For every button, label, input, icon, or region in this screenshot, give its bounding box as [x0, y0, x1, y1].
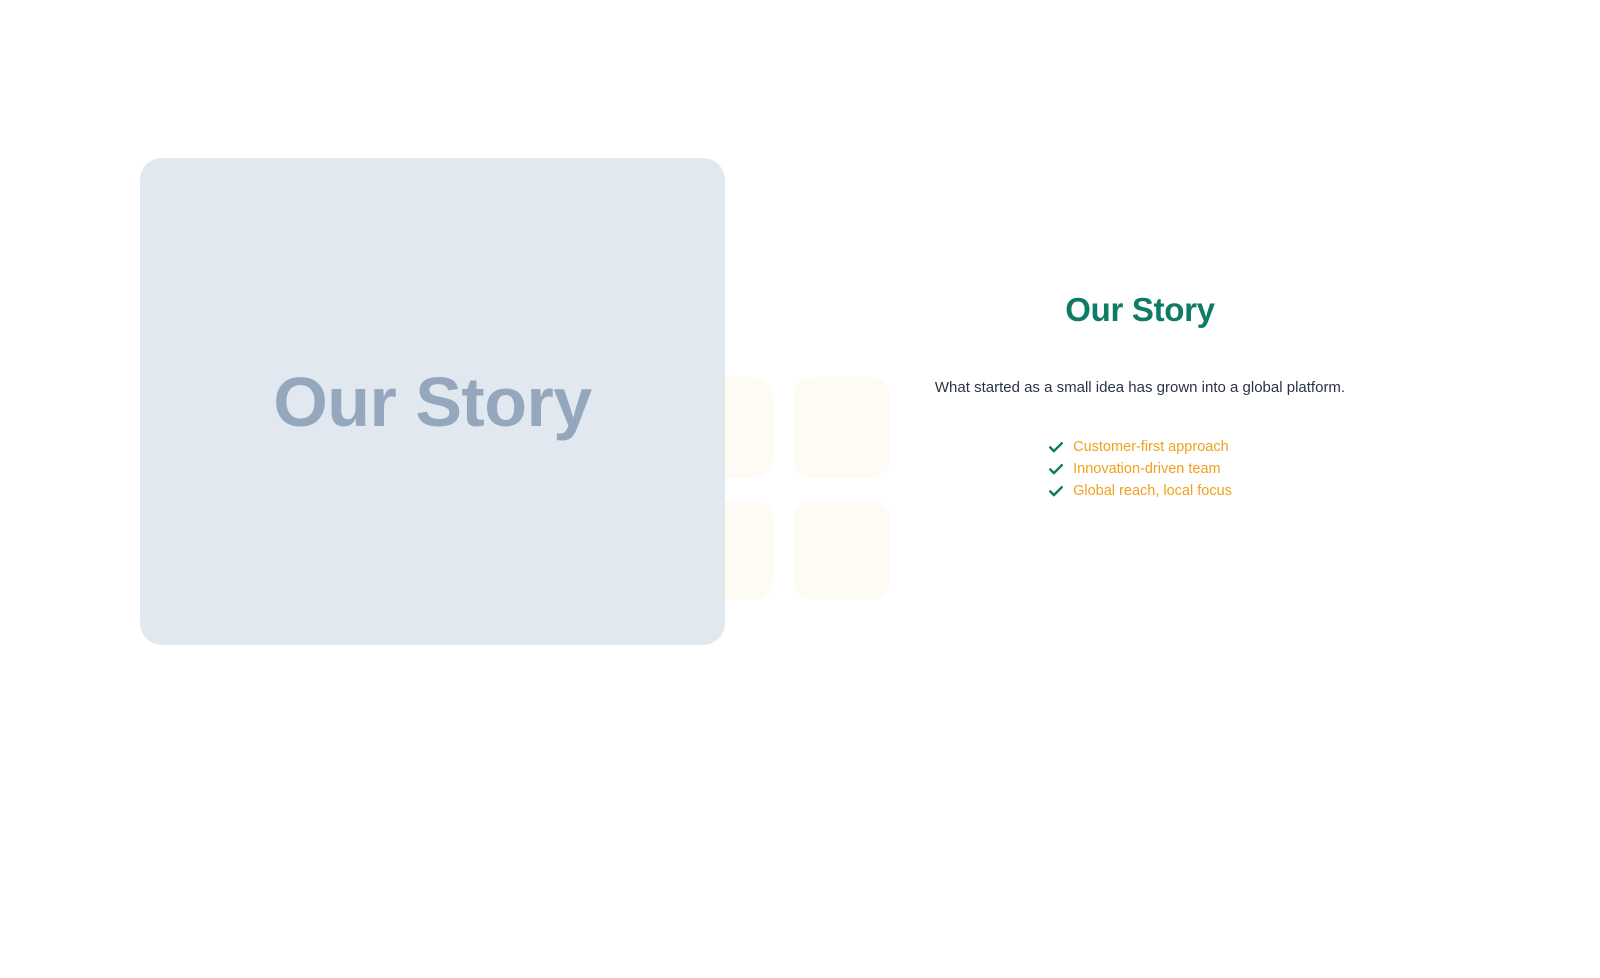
decor-tile-bottom-right [793, 500, 890, 600]
media-placeholder-label: Our Story [273, 367, 591, 437]
check-icon [1048, 483, 1064, 499]
section-heading: Our Story [905, 290, 1375, 330]
story-content-column: Our Story What started as a small idea h… [905, 290, 1375, 504]
check-icon [1048, 461, 1064, 477]
feature-label: Global reach, local focus [1073, 484, 1232, 499]
feature-label: Customer-first approach [1073, 440, 1229, 455]
list-item: Customer-first approach [1048, 436, 1232, 457]
section-paragraph: What started as a small idea has grown i… [905, 330, 1375, 399]
list-item: Global reach, local focus [1048, 480, 1232, 501]
decorative-tile-grid [700, 377, 890, 600]
check-icon [1048, 439, 1064, 455]
list-item: Innovation-driven team [1048, 458, 1232, 479]
feature-label: Innovation-driven team [1073, 462, 1221, 477]
feature-list: Customer-first approach Innovation-drive… [1048, 398, 1232, 502]
media-placeholder-card: Our Story [140, 158, 725, 645]
decor-tile-top-right [793, 377, 890, 478]
